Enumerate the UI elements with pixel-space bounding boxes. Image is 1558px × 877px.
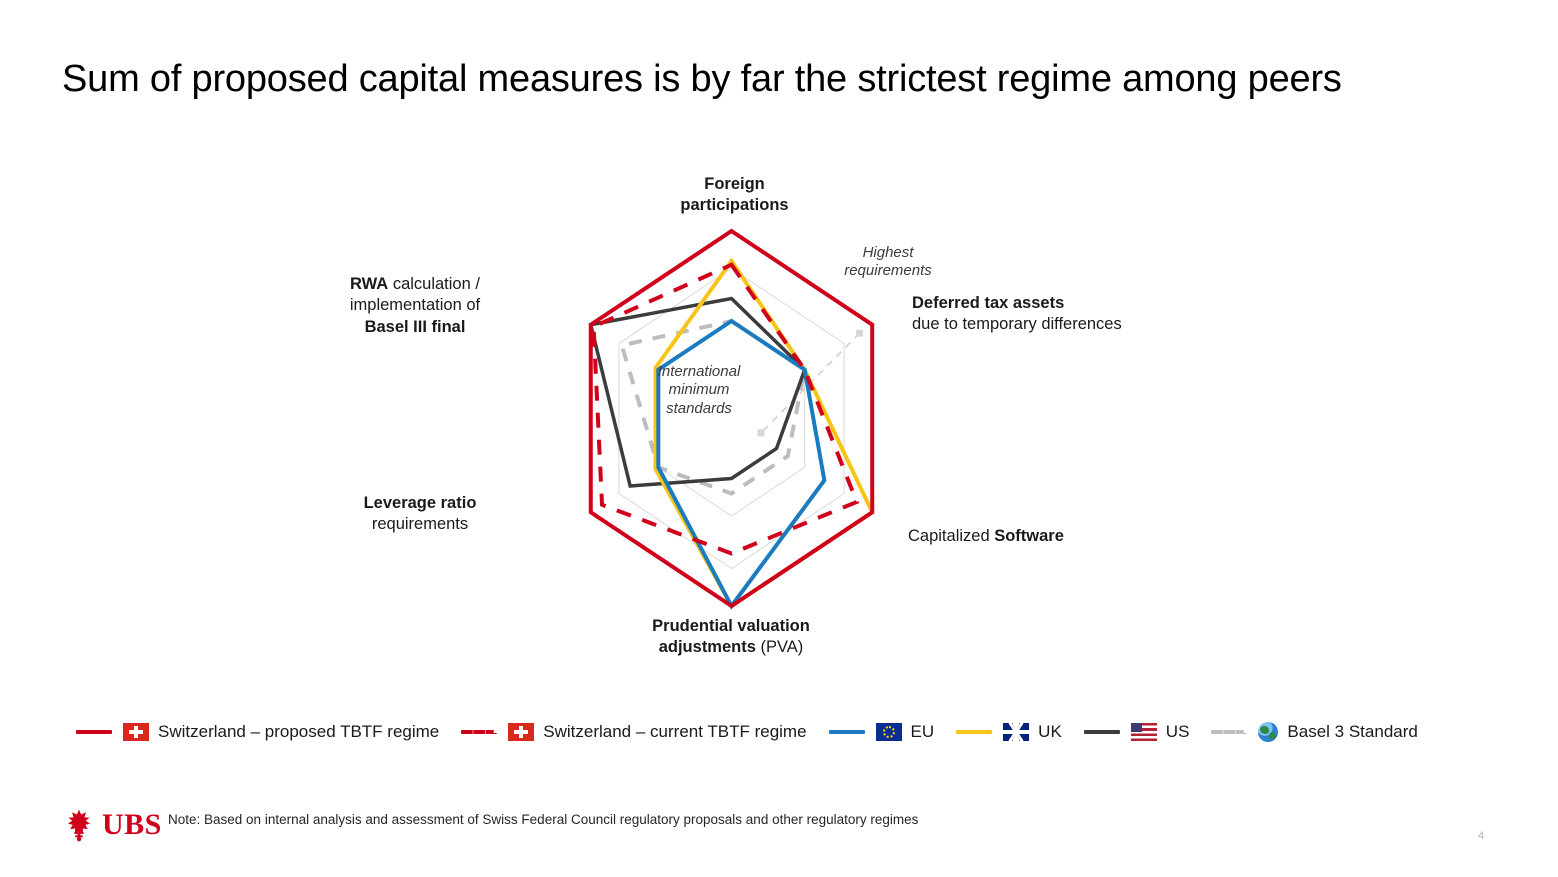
radar-chart: Foreign participations Deferred tax asse…	[0, 150, 1558, 680]
axis-label-capitalized-software: Capitalized Software	[908, 526, 1138, 547]
axis-label-line2: participations	[667, 195, 802, 216]
ubs-wordmark: UBS	[102, 810, 162, 840]
legend-item-basel-3-standard[interactable]: Basel 3 Standard	[1211, 722, 1417, 742]
legend-line-swatch	[1084, 730, 1120, 734]
legend-label: Basel 3 Standard	[1287, 722, 1417, 742]
chart-legend: Switzerland – proposed TBTF regimeSwitze…	[76, 712, 1516, 752]
legend-item-switzerland-proposed-tbtf-regime[interactable]: Switzerland – proposed TBTF regime	[76, 722, 439, 742]
legend-label: Switzerland – current TBTF regime	[543, 722, 806, 742]
axis-label-prefix: Capitalized	[908, 527, 994, 545]
flag-eu-icon	[876, 723, 902, 741]
legend-item-us[interactable]: US	[1084, 722, 1190, 742]
legend-line-swatch	[829, 730, 865, 734]
flag-switzerland-icon	[123, 723, 149, 741]
annotation-line1: International	[644, 363, 754, 381]
annotation-line2: requirements	[828, 262, 948, 280]
axis-label-line1: Leverage ratio	[364, 494, 477, 512]
page-title: Sum of proposed capital measures is by f…	[62, 58, 1342, 101]
annotation-international-minimum: International minimum standards	[644, 363, 754, 418]
axis-label-prudential-valuation: Prudential valuation adjustments (PVA)	[600, 616, 862, 659]
radar-chart-svg	[0, 150, 1558, 680]
axis-label-line3: Basel III final	[365, 318, 466, 336]
legend-line-swatch	[956, 730, 992, 734]
axis-label-suffix: (PVA)	[756, 638, 803, 656]
callout-marker	[856, 330, 863, 337]
legend-line-swatch	[1211, 730, 1247, 734]
flag-switzerland-icon	[508, 723, 534, 741]
flag-uk-icon	[1003, 723, 1029, 741]
axis-label-line2: adjustments	[659, 638, 756, 656]
axis-label-line1: Foreign	[667, 174, 802, 195]
annotation-line1: Highest	[828, 244, 948, 262]
legend-item-eu[interactable]: EU	[829, 722, 935, 742]
axis-label-line2: requirements	[310, 514, 530, 535]
axis-label-deferred-tax-assets: Deferred tax assets due to temporary dif…	[912, 293, 1187, 336]
annotation-line2: minimum	[644, 381, 754, 399]
legend-line-swatch	[76, 730, 112, 734]
axis-label-line2: due to temporary differences	[912, 314, 1187, 335]
slide-root: Sum of proposed capital measures is by f…	[0, 0, 1558, 877]
globe-icon	[1258, 722, 1278, 742]
page-number: 4	[1478, 830, 1484, 842]
legend-label: EU	[911, 722, 935, 742]
annotation-line3: standards	[644, 400, 754, 418]
annotation-highest-requirements: Highest requirements	[828, 244, 948, 281]
axis-label-leverage-ratio: Leverage ratio requirements	[310, 493, 530, 536]
legend-item-switzerland-current-tbtf-regime[interactable]: Switzerland – current TBTF regime	[461, 722, 806, 742]
radar-series-switzerland-proposed-tbtf-regime	[591, 231, 872, 606]
legend-label: UK	[1038, 722, 1062, 742]
legend-line-swatch	[461, 730, 497, 734]
axis-label-emphasis: Software	[994, 527, 1064, 545]
footnote: Note: Based on internal analysis and ass…	[168, 812, 918, 827]
axis-label-line2: implementation of	[300, 295, 530, 316]
axis-label-foreign-participations: Foreign participations	[667, 174, 802, 217]
ubs-logo: UBS	[62, 808, 162, 842]
axis-label-rwa-calculation: RWA calculation / implementation of Base…	[300, 274, 530, 338]
legend-label: Switzerland – proposed TBTF regime	[158, 722, 439, 742]
legend-item-uk[interactable]: UK	[956, 722, 1062, 742]
axis-label-emphasis: RWA	[350, 275, 388, 293]
legend-label: US	[1166, 722, 1190, 742]
ubs-keys-icon	[62, 808, 96, 842]
callout-marker-inner	[758, 429, 765, 436]
axis-label-suffix: calculation /	[388, 275, 480, 293]
flag-us-icon	[1131, 723, 1157, 741]
axis-label-line1: Prudential valuation	[652, 617, 810, 635]
radar-series-group	[591, 231, 872, 606]
axis-label-line1: Deferred tax assets	[912, 294, 1064, 312]
